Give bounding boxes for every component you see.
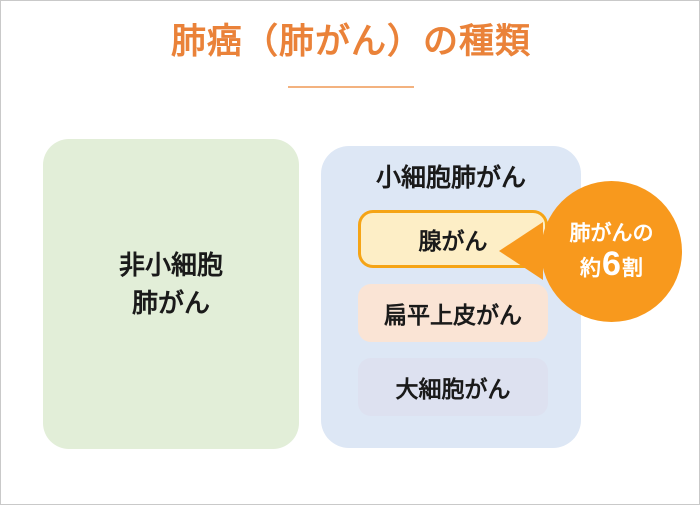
callout-badge-share[interactable]: 肺がんの 約 6 割: [541, 181, 682, 322]
callout-text-group: 肺がんの 約 6 割: [541, 181, 682, 322]
callout-suffix: 割: [622, 256, 643, 282]
callout-line-1: 肺がんの: [570, 221, 654, 247]
callout-number: 6: [601, 247, 622, 281]
card-non-small-cell-lung-cancer[interactable]: 非小細胞 肺がん: [43, 139, 299, 449]
slide-canvas: 肺癌（肺がん）の種類 非小細胞 肺がん 小細胞肺がん 腺がん 扁平上皮がん 大細…: [0, 0, 700, 505]
callout-pointer-triangle-icon: [499, 222, 543, 280]
title-underline-rule: [288, 86, 414, 88]
page-title: 肺癌（肺がん）の種類: [1, 21, 700, 63]
callout-line-2: 約 6 割: [580, 247, 643, 282]
callout-prefix: 約: [580, 256, 601, 282]
card-non-small-cell-label: 非小細胞 肺がん: [43, 247, 299, 322]
subtype-large-cell-carcinoma[interactable]: 大細胞がん: [358, 358, 548, 416]
subtype-squamous-cell-carcinoma[interactable]: 扁平上皮がん: [358, 284, 548, 342]
